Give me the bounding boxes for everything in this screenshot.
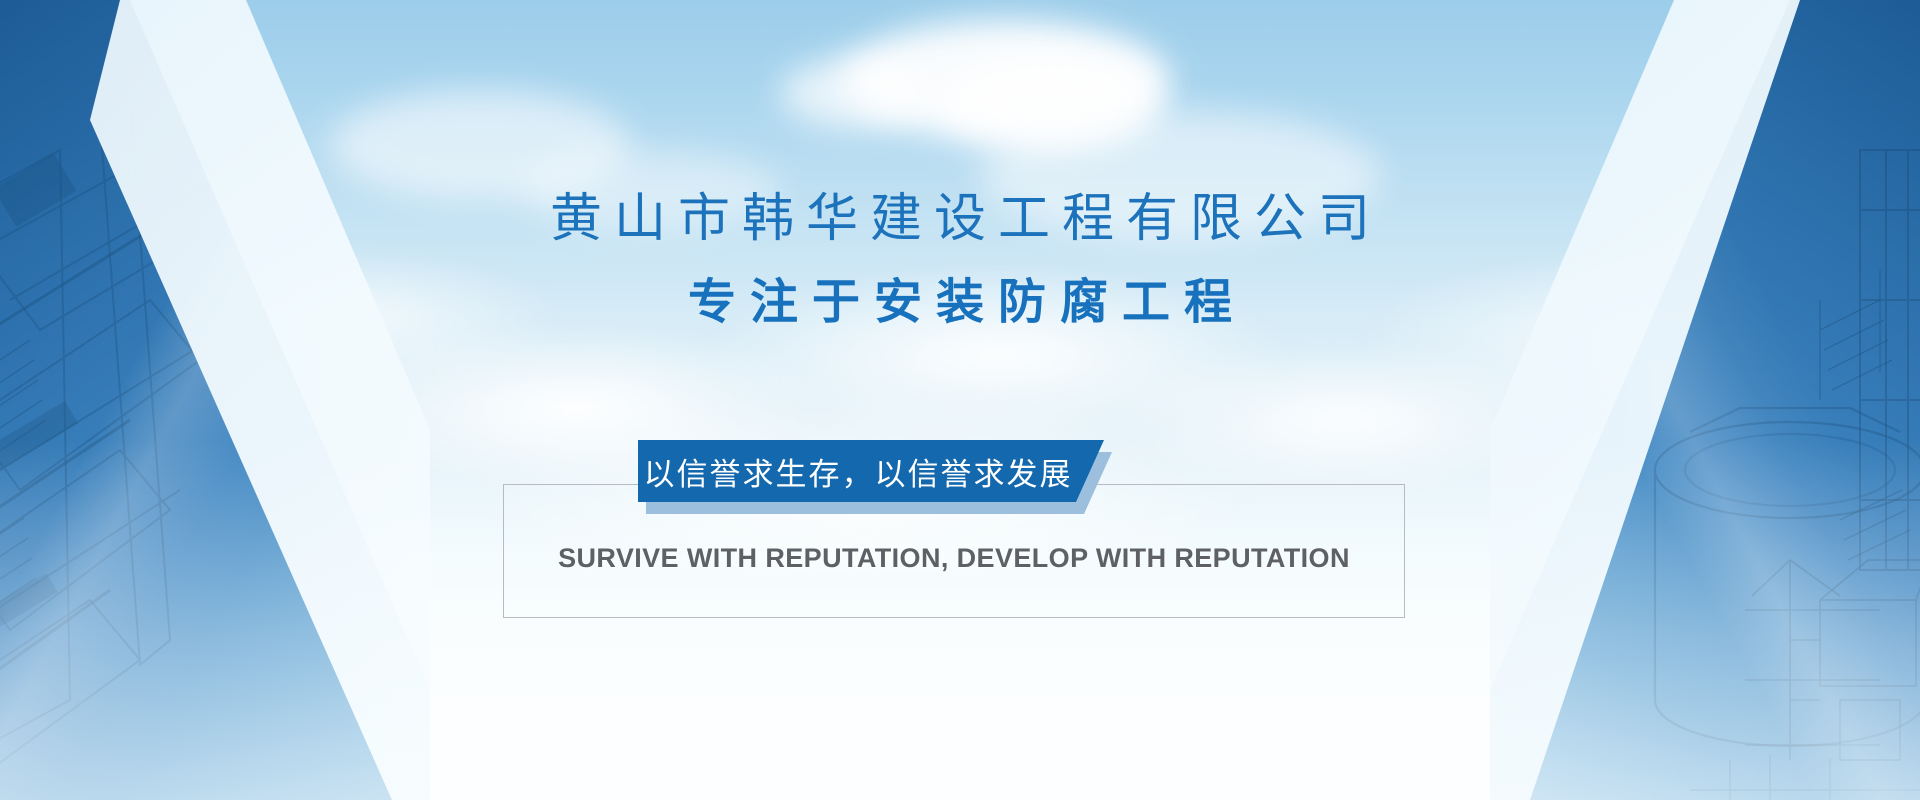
banner-content: 黄山市韩华建设工程有限公司 专注于安装防腐工程 以信誉求生存，以信誉求发展 SU…	[0, 0, 1920, 800]
company-title: 黄山市韩华建设工程有限公司	[0, 176, 1920, 251]
slogan-text-cn: 以信誉求生存，以信誉求发展	[638, 440, 1078, 502]
slogan-banner: 以信誉求生存，以信誉求发展	[638, 440, 1108, 506]
slogan-text-en: SURVIVE WITH REPUTATION, DEVELOP WITH RE…	[503, 543, 1405, 574]
hero-banner: 黄山市韩华建设工程有限公司 专注于安装防腐工程 以信誉求生存，以信誉求发展 SU…	[0, 0, 1920, 800]
company-tagline: 专注于安装防腐工程	[0, 262, 1920, 332]
